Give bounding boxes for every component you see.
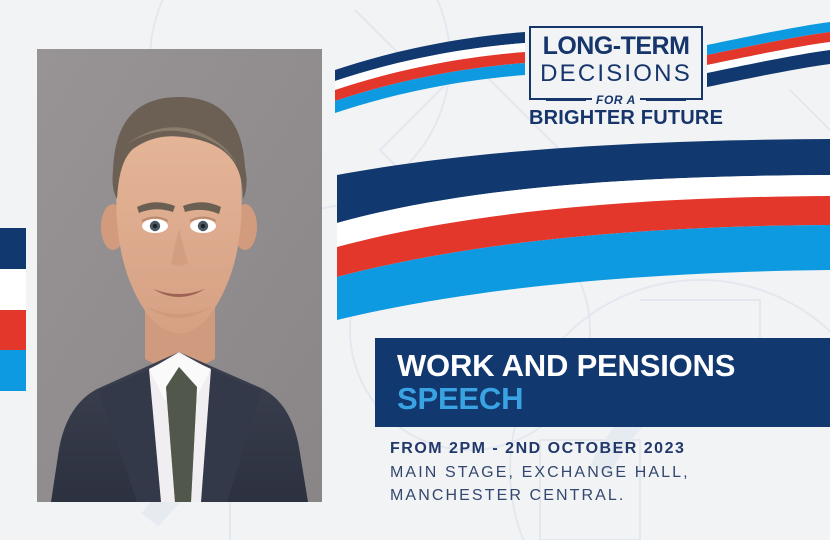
event-title-main: WORK AND PENSIONS xyxy=(397,350,830,383)
logo-line-for-a: FOR A xyxy=(592,93,640,107)
stripe-light-blue xyxy=(0,350,26,391)
logo-line-brighter-future: BRIGHTER FUTURE xyxy=(529,107,703,130)
stripe-navy xyxy=(0,228,26,269)
stripe-red xyxy=(0,310,26,351)
logo-line-decisions: DECISIONS xyxy=(539,61,693,87)
logo-for-a-row: FOR A xyxy=(531,93,701,107)
speaker-portrait xyxy=(37,49,322,502)
left-edge-stripes xyxy=(0,228,26,391)
event-title-sub: SPEECH xyxy=(397,383,830,416)
logo-rule-right xyxy=(646,99,686,101)
event-venue-line-2: MANCHESTER CENTRAL. xyxy=(390,484,690,507)
event-title-bar: WORK AND PENSIONS SPEECH xyxy=(375,338,830,427)
logo-line-long-term: LONG-TERM xyxy=(539,34,693,60)
portrait-illustration xyxy=(37,49,322,502)
event-poster: LONG-TERM DECISIONS FOR A BRIGHTER FUTUR… xyxy=(0,0,830,540)
event-date-time: FROM 2PM - 2ND OCTOBER 2023 xyxy=(390,437,690,461)
logo-box: LONG-TERM DECISIONS FOR A xyxy=(529,26,703,100)
campaign-logo: LONG-TERM DECISIONS FOR A BRIGHTER FUTUR… xyxy=(529,26,703,130)
event-venue-line-1: MAIN STAGE, EXCHANGE HALL, xyxy=(390,461,690,484)
logo-rule-left xyxy=(546,99,586,101)
event-details: FROM 2PM - 2ND OCTOBER 2023 MAIN STAGE, … xyxy=(390,437,690,507)
stripe-white xyxy=(0,269,26,310)
